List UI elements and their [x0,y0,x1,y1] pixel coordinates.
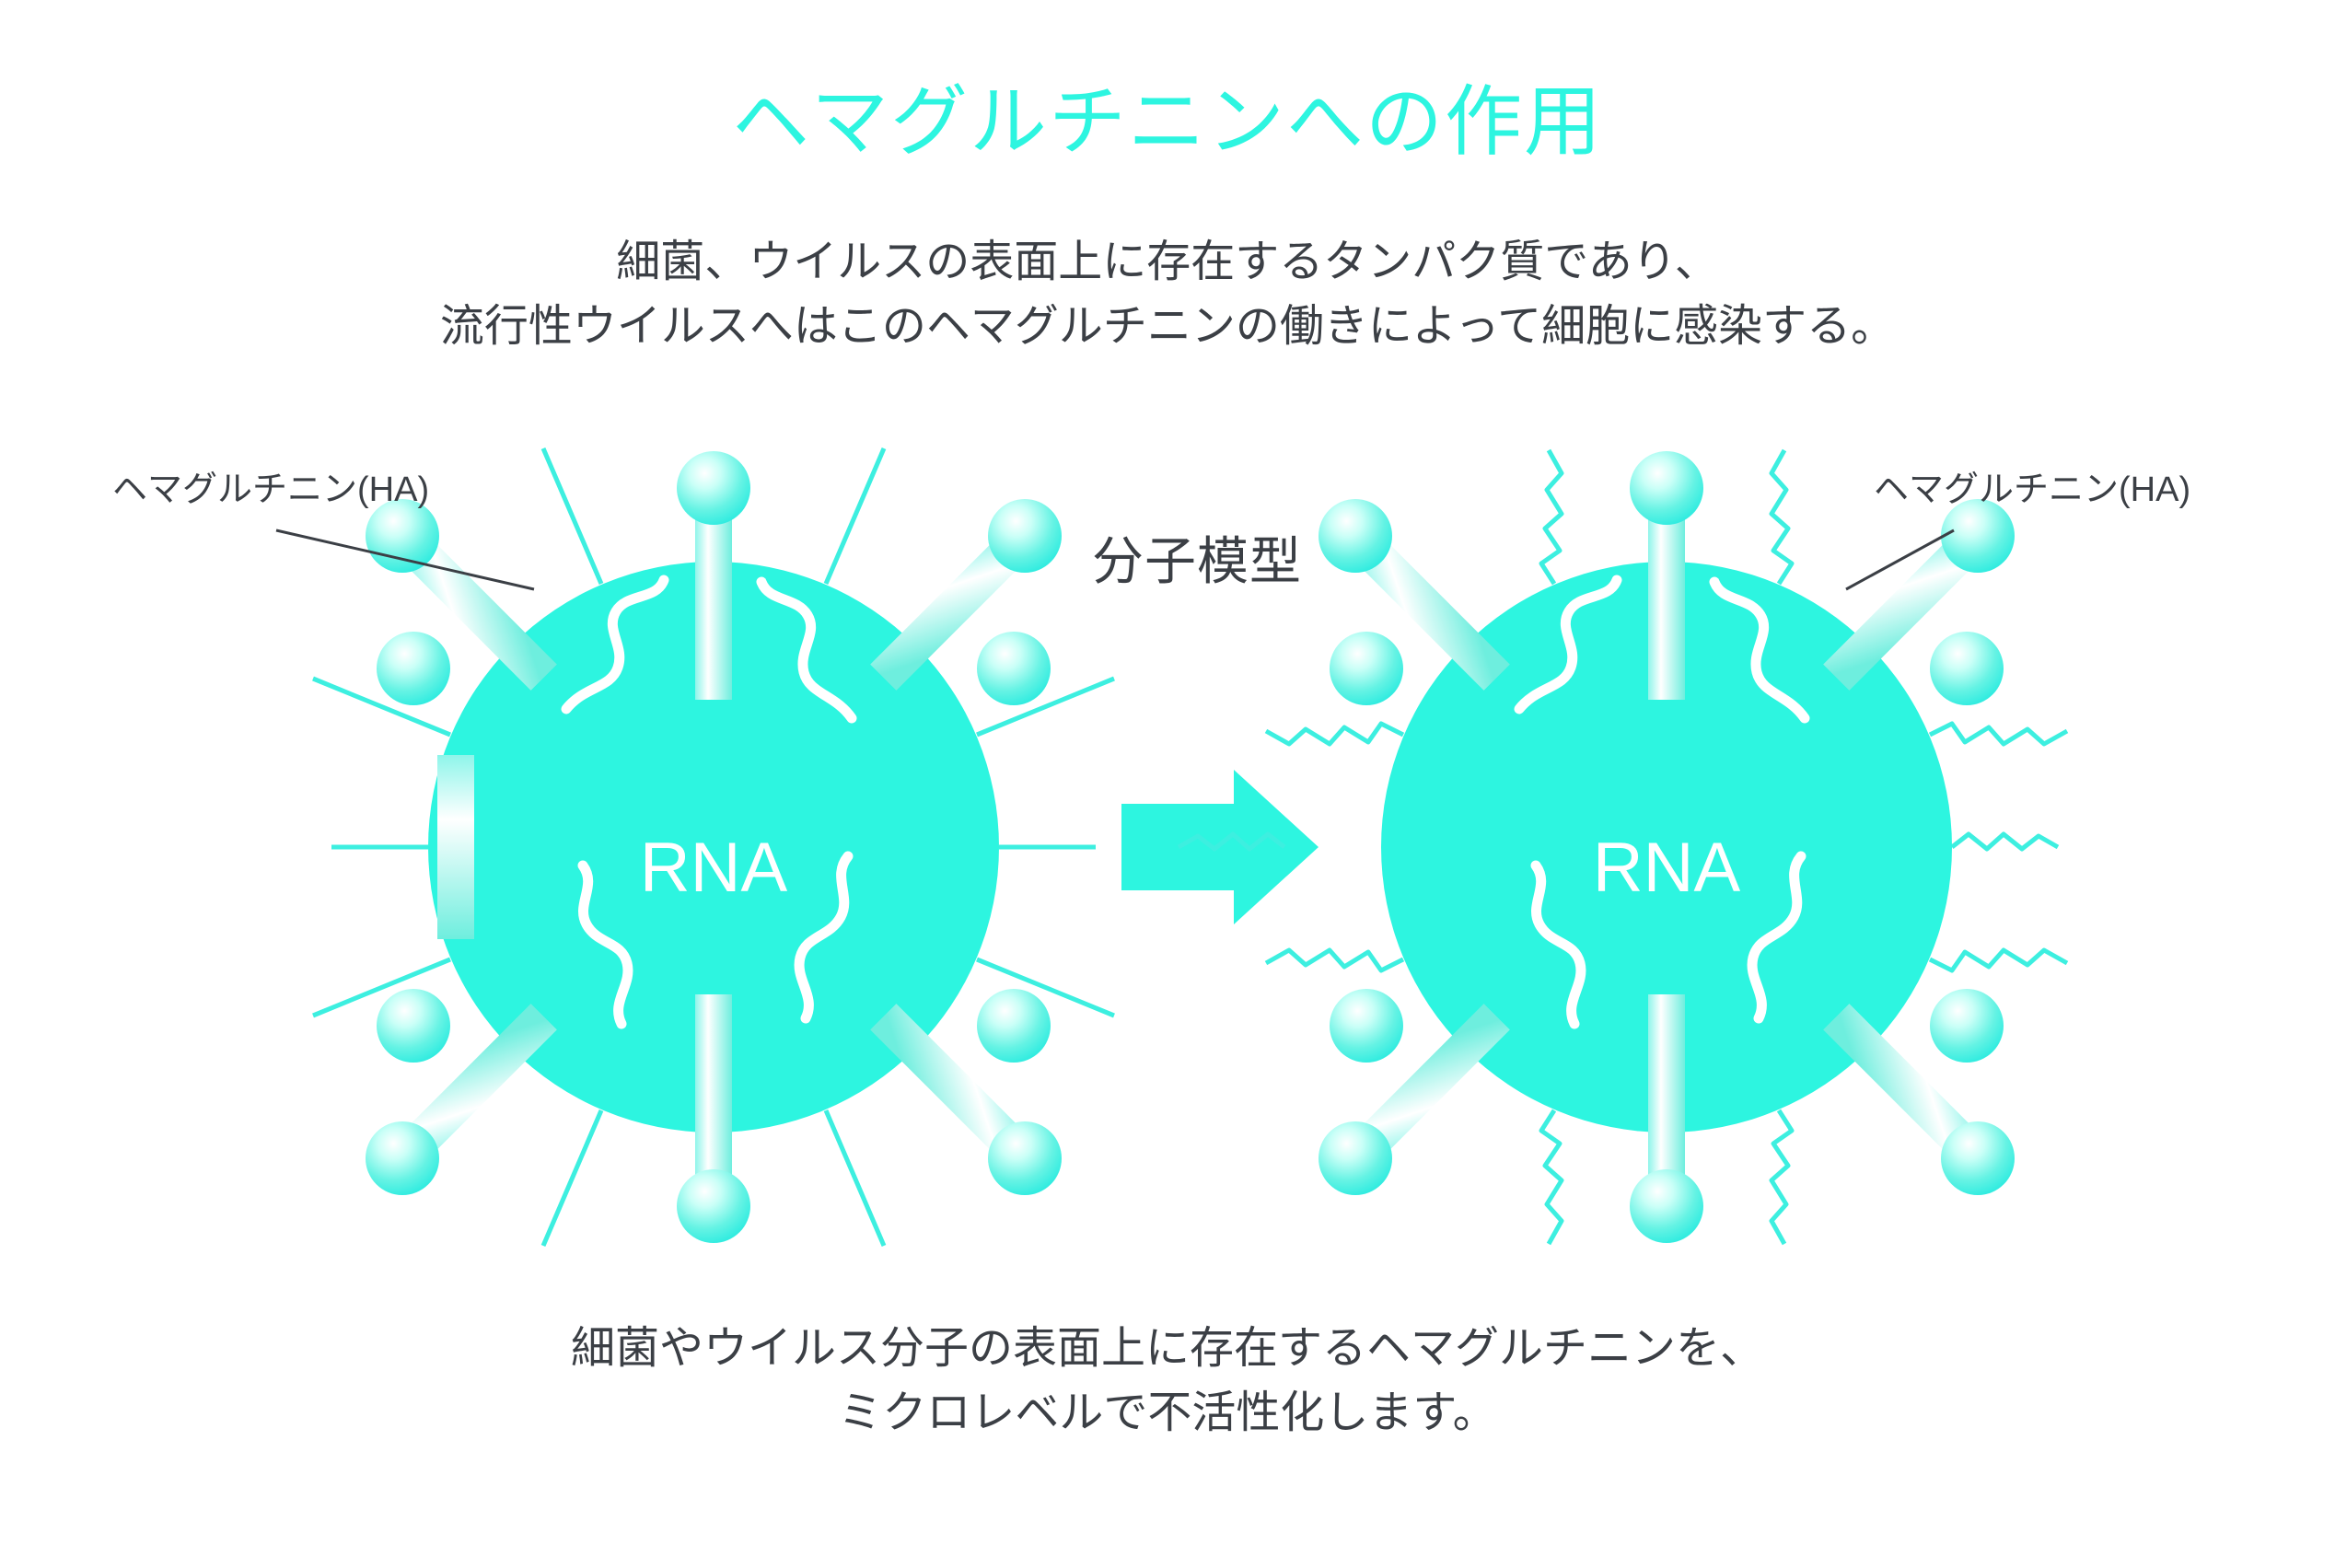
right-ha-label: ヘマグルチニン(HA) [1874,460,2190,511]
left-virus-spikes [366,451,1062,1243]
subtitle-line-2: 流行性ウイルスへはこのヘマグルチニンの働きによって細胞に感染する。 [0,295,2335,359]
right-virus-core [1381,562,1952,1132]
left-ha-label: ヘマグルチニン(HA) [112,460,429,511]
right-ha-leader-line [1846,530,1954,589]
left-virus-core [428,562,999,1132]
right-virus-spikes [1319,451,2015,1243]
page-title: ヘマグルチニンへの作用 [0,79,2335,164]
transition-arrow [1121,770,1319,924]
subtitle-block: 細菌、ウイルスの表面上に存在するタンパク質であり、 流行性ウイルスへはこのヘマグ… [0,230,2335,358]
left-virus-group: RNA [276,448,1114,1246]
left-ha-leader-line [276,530,534,589]
left-virus-rna-strands [566,580,852,1024]
slide-canvas: ヘマグルチニンへの作用 細菌、ウイルスの表面上に存在するタンパク質であり、 流行… [0,0,2335,1568]
molecular-model-label: 分子模型 [994,520,1400,595]
caption-line-2: ミクロレベルで不活性化します。 [0,1381,2335,1446]
caption-block: 細菌やウイルス分子の表面上に存在するヘマグルチニンを、 ミクロレベルで不活性化し… [0,1317,2335,1445]
left-virus-rna-label: RNA [640,829,788,907]
caption-line-1: 細菌やウイルス分子の表面上に存在するヘマグルチニンを、 [0,1317,2335,1381]
subtitle-line-1: 細菌、ウイルスの表面上に存在するタンパク質であり、 [0,230,2335,295]
right-virus-rna-strands [1519,580,1805,1024]
right-virus-rna-label: RNA [1593,829,1741,907]
